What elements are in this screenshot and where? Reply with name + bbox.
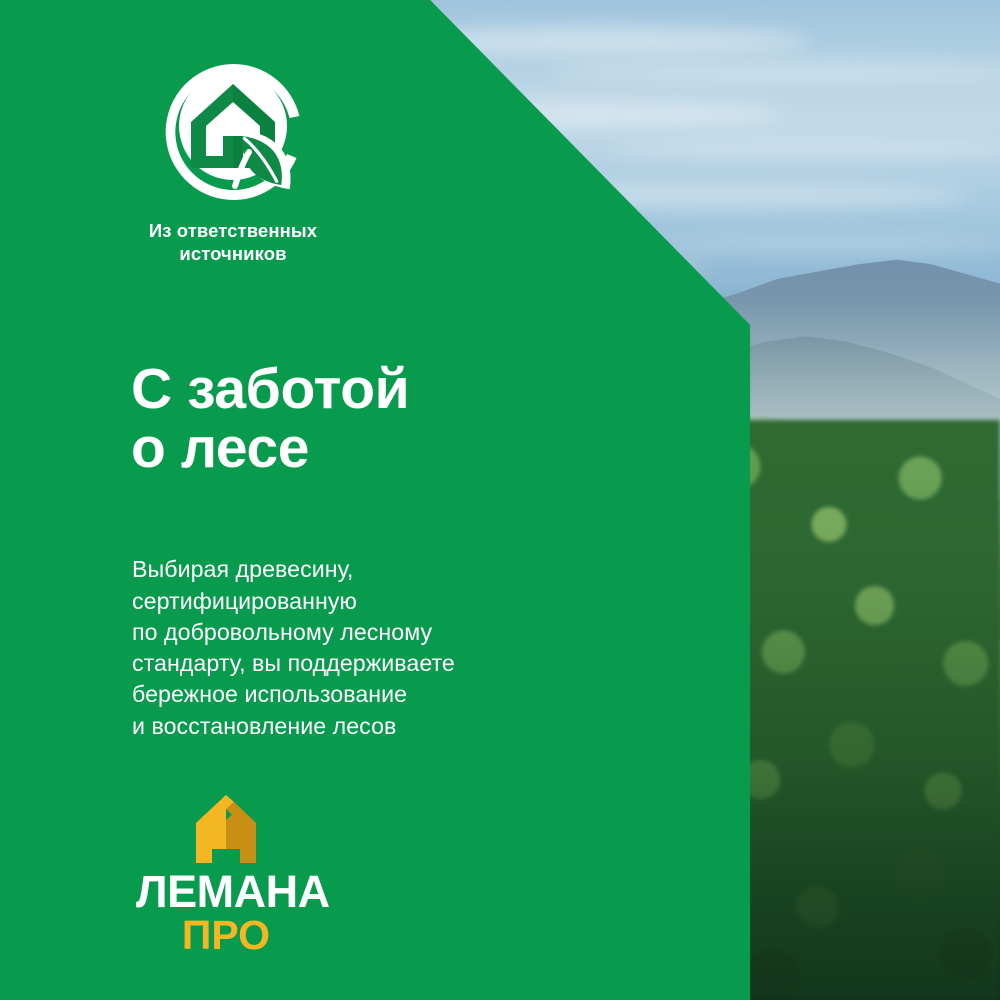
poster-root: Из ответственных источников С заботой о …	[0, 0, 1000, 1000]
certification-block: Из ответственных источников	[118, 58, 348, 265]
certification-caption: Из ответственных источников	[118, 220, 348, 265]
lemana-house-icon	[188, 793, 264, 865]
brand-lockup: ЛЕМАНА ПРО	[136, 793, 316, 956]
page-title: С заботой о лесе	[131, 360, 409, 477]
brand-name: ЛЕМАНА	[136, 869, 316, 914]
cloud-band	[650, 236, 1000, 252]
body-description: Выбирая древесину, сертифицированную по …	[132, 554, 455, 742]
responsible-sources-seal-icon	[159, 58, 307, 206]
brand-suffix: ПРО	[136, 915, 316, 956]
